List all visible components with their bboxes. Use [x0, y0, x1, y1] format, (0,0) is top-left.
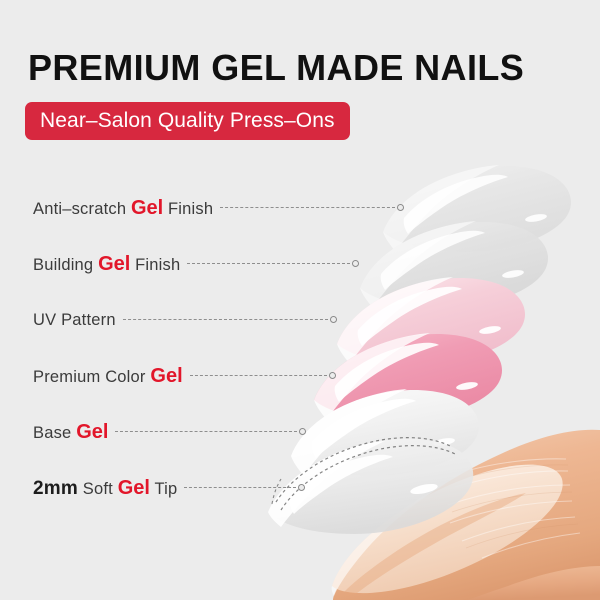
leader-line-anti-scratch-gel-finish	[220, 207, 395, 209]
callout-label-part: Building	[33, 256, 98, 274]
leader-line-premium-color-gel	[190, 375, 327, 377]
callout-label-part: Premium Color	[33, 368, 150, 386]
callout-row-premium-color-gel: Premium Color Gel	[33, 363, 327, 389]
callout-label-part: Finish	[163, 200, 213, 218]
leader-endpoint-dot	[298, 484, 305, 491]
leader-endpoint-dot	[397, 204, 404, 211]
callout-label-part: Gel	[150, 365, 182, 387]
callout-label-part: Gel	[76, 421, 108, 443]
callout-row-anti-scratch-gel-finish: Anti–scratch Gel Finish	[33, 195, 395, 221]
callout-label-part: Gel	[98, 253, 130, 275]
callout-label-part: Soft	[78, 480, 118, 498]
callout-label-building-gel-finish: Building Gel Finish	[33, 251, 180, 278]
callout-label-part: Anti–scratch	[33, 200, 131, 218]
subtitle-badge-label: Near–Salon Quality Press–Ons	[40, 109, 335, 133]
leader-line-uv-pattern	[123, 319, 328, 321]
leader-endpoint-dot	[352, 260, 359, 267]
callout-label-part: UV Pattern	[33, 311, 116, 329]
callout-label-part: Base	[33, 424, 76, 442]
leader-endpoint-dot	[329, 372, 336, 379]
callout-row-2mm-soft-gel-tip: 2mm Soft Gel Tip	[33, 475, 296, 501]
callout-label-part: Finish	[130, 256, 180, 274]
callout-label-uv-pattern: UV Pattern	[33, 307, 116, 333]
callout-row-base-gel: Base Gel	[33, 419, 297, 445]
callout-label-part: Tip	[150, 480, 177, 498]
leader-endpoint-dot	[330, 316, 337, 323]
leader-line-base-gel	[115, 431, 297, 433]
leader-line-2mm-soft-gel-tip	[184, 487, 296, 489]
leader-line-building-gel-finish	[187, 263, 350, 265]
callout-label-part: Gel	[118, 477, 150, 499]
page-title: PREMIUM GEL MADE NAILS	[28, 47, 524, 89]
callout-label-anti-scratch-gel-finish: Anti–scratch Gel Finish	[33, 195, 213, 222]
callout-label-part: Gel	[131, 197, 163, 219]
callout-row-building-gel-finish: Building Gel Finish	[33, 251, 350, 277]
callout-label-base-gel: Base Gel	[33, 419, 108, 446]
callout-label-2mm-soft-gel-tip: 2mm Soft Gel Tip	[33, 475, 177, 502]
header: PREMIUM GEL MADE NAILS Near–Salon Qualit…	[0, 0, 600, 150]
callout-label-part: 2mm	[33, 478, 78, 499]
product-infographic: PREMIUM GEL MADE NAILS Near–Salon Qualit…	[0, 0, 600, 600]
callout-label-premium-color-gel: Premium Color Gel	[33, 363, 183, 390]
subtitle-badge: Near–Salon Quality Press–Ons	[25, 102, 350, 140]
callout-row-uv-pattern: UV Pattern	[33, 307, 328, 333]
leader-endpoint-dot	[299, 428, 306, 435]
